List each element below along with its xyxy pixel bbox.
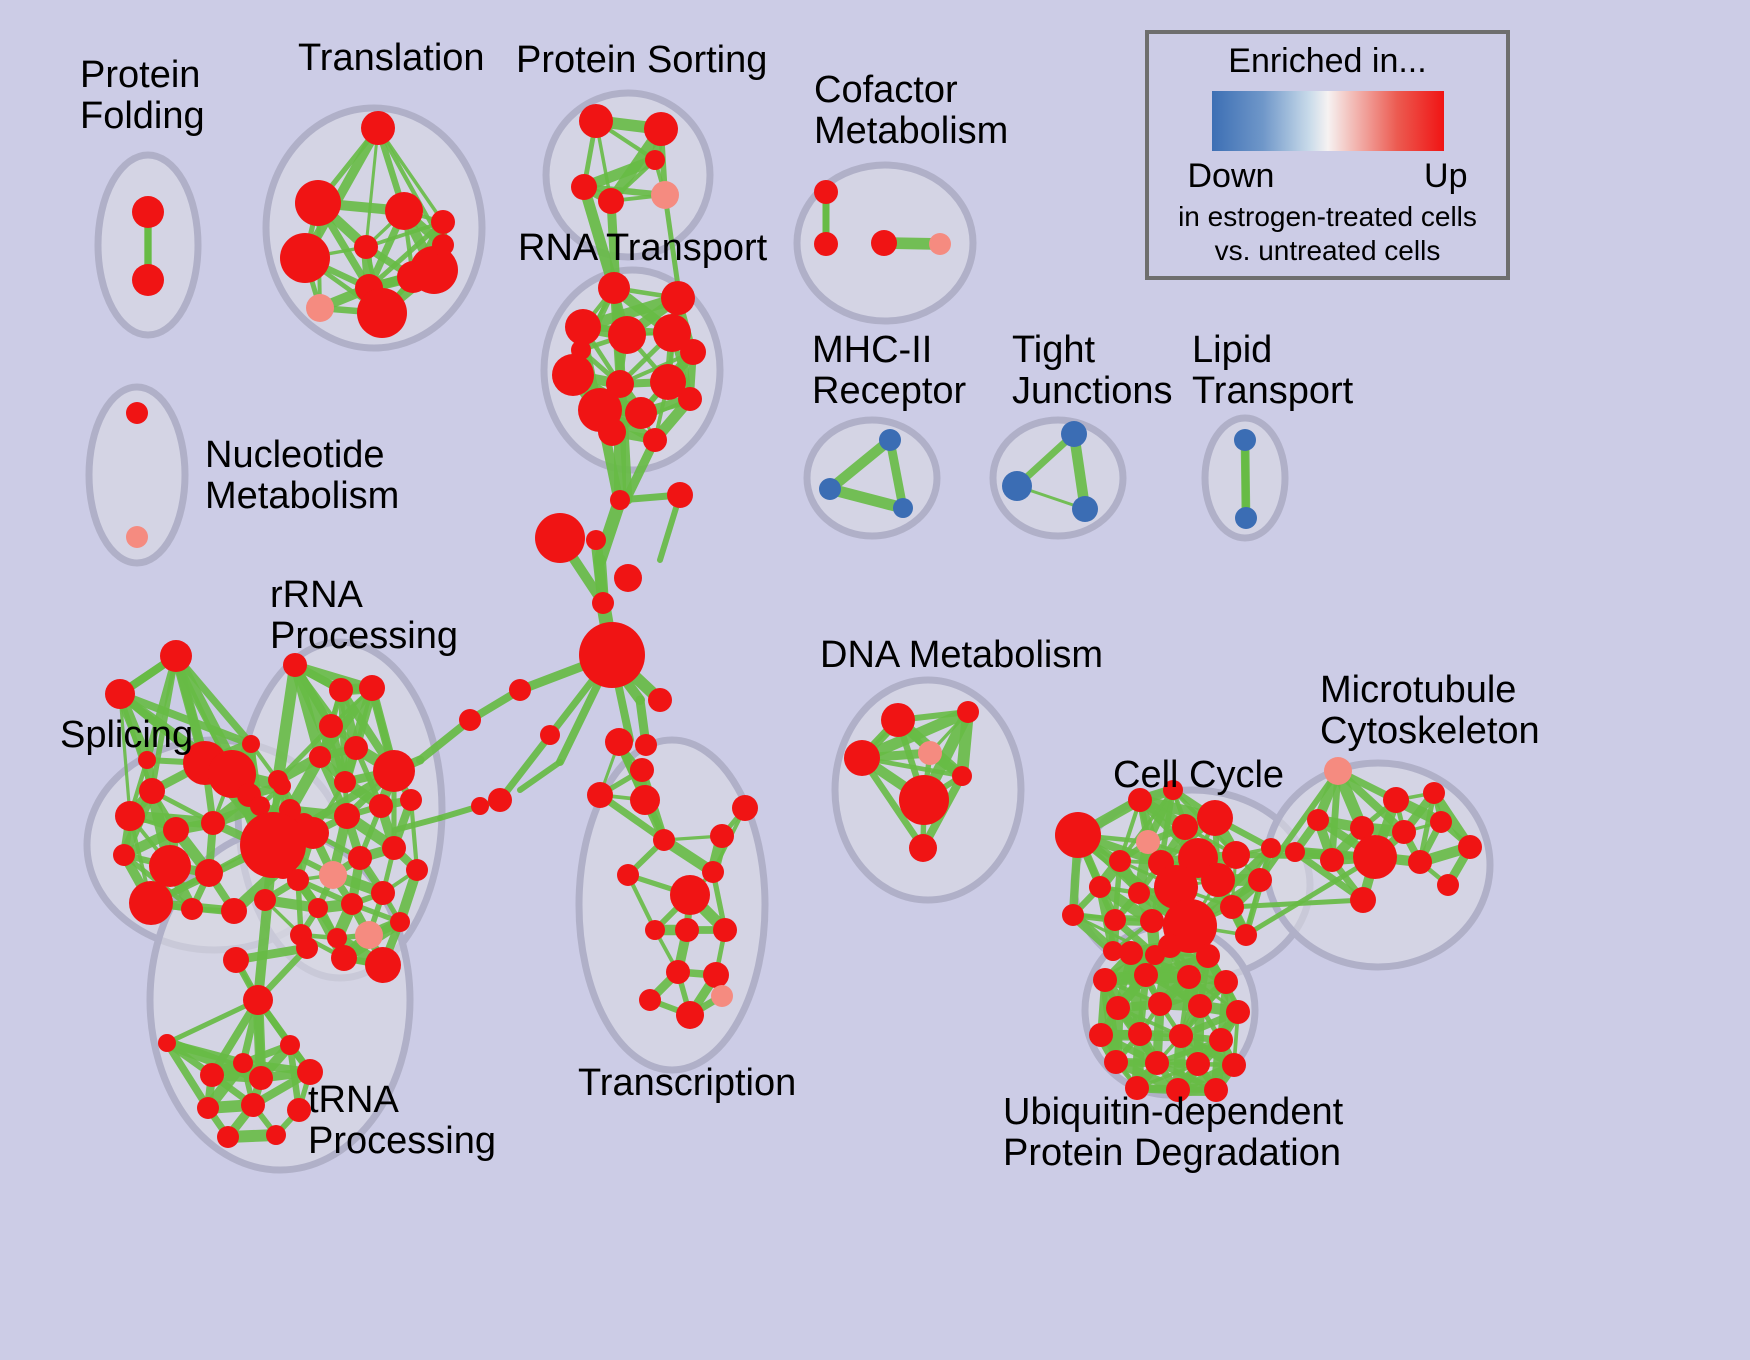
network-node[interactable]: [579, 622, 645, 688]
network-node[interactable]: [1234, 429, 1256, 451]
network-node[interactable]: [319, 861, 347, 889]
network-node[interactable]: [369, 794, 393, 818]
network-node[interactable]: [308, 898, 328, 918]
network-node[interactable]: [630, 760, 650, 780]
network-node[interactable]: [1128, 882, 1150, 904]
network-node[interactable]: [249, 1066, 273, 1090]
network-node[interactable]: [670, 875, 710, 915]
network-node[interactable]: [702, 861, 724, 883]
network-node[interactable]: [1109, 850, 1131, 872]
network-node[interactable]: [667, 482, 693, 508]
network-node[interactable]: [181, 898, 203, 920]
cluster-label-transcription: Transcription: [578, 1063, 796, 1104]
network-node[interactable]: [329, 678, 353, 702]
network-node[interactable]: [630, 785, 660, 815]
network-node[interactable]: [1089, 876, 1111, 898]
network-node[interactable]: [1104, 1050, 1128, 1074]
network-node[interactable]: [680, 339, 706, 365]
network-node[interactable]: [129, 881, 173, 925]
network-node[interactable]: [711, 985, 733, 1007]
network-node[interactable]: [579, 104, 613, 138]
network-node[interactable]: [341, 893, 363, 915]
legend-caption-line1: in estrogen-treated cells: [1178, 200, 1477, 234]
network-node[interactable]: [1104, 909, 1126, 931]
network-node[interactable]: [359, 675, 385, 701]
network-node[interactable]: [431, 210, 455, 234]
network-node[interactable]: [666, 960, 690, 984]
network-node[interactable]: [459, 709, 481, 731]
network-node[interactable]: [357, 288, 407, 338]
cluster-label-microtubule-cytoskeleton: Microtubule Cytoskeleton: [1320, 670, 1540, 751]
network-node[interactable]: [540, 725, 560, 745]
network-node[interactable]: [651, 181, 679, 209]
network-node[interactable]: [1169, 1024, 1193, 1048]
network-node[interactable]: [1201, 863, 1235, 897]
network-node[interactable]: [160, 640, 192, 672]
network-node[interactable]: [1055, 812, 1101, 858]
network-node[interactable]: [710, 824, 734, 848]
network-node[interactable]: [361, 111, 395, 145]
network-node[interactable]: [201, 811, 225, 835]
network-node[interactable]: [1061, 421, 1087, 447]
network-node[interactable]: [881, 703, 915, 737]
network-node[interactable]: [1285, 842, 1305, 862]
cluster-label-lipid-transport: Lipid Transport: [1192, 330, 1353, 411]
enrichment-map-figure: Enriched in... Down Up in estrogen-treat…: [0, 0, 1750, 1360]
network-node[interactable]: [296, 937, 318, 959]
network-node[interactable]: [509, 679, 531, 701]
network-node[interactable]: [645, 920, 665, 940]
network-node[interactable]: [1196, 944, 1220, 968]
network-node[interactable]: [105, 679, 135, 709]
network-node[interactable]: [1235, 507, 1257, 529]
network-node[interactable]: [243, 985, 273, 1015]
network-node[interactable]: [287, 869, 309, 891]
network-node[interactable]: [605, 728, 633, 756]
network-node[interactable]: [676, 1001, 704, 1029]
network-node[interactable]: [1197, 800, 1233, 836]
network-node[interactable]: [331, 945, 357, 971]
cluster-label-tight-junctions: Tight Junctions: [1012, 330, 1173, 411]
cluster-label-rrna-processing: rRNA Processing: [270, 575, 458, 656]
network-node[interactable]: [1226, 1000, 1250, 1024]
network-node[interactable]: [126, 402, 148, 424]
network-node[interactable]: [488, 788, 512, 812]
network-node[interactable]: [410, 246, 458, 294]
cluster-ellipse-mhc-ii-receptor: [807, 420, 937, 536]
network-node[interactable]: [957, 701, 979, 723]
network-node[interactable]: [240, 812, 306, 878]
network-node[interactable]: [126, 526, 148, 548]
network-node[interactable]: [1093, 968, 1117, 992]
network-node[interactable]: [266, 1125, 286, 1145]
network-node[interactable]: [1072, 496, 1098, 522]
network-node[interactable]: [334, 803, 360, 829]
network-node[interactable]: [280, 233, 330, 283]
network-node[interactable]: [242, 735, 260, 753]
network-node[interactable]: [587, 782, 613, 808]
network-node[interactable]: [1002, 471, 1032, 501]
network-node[interactable]: [1324, 757, 1352, 785]
network-node[interactable]: [223, 947, 249, 973]
network-node[interactable]: [139, 778, 165, 804]
cluster-label-translation: Translation: [298, 38, 485, 79]
network-node[interactable]: [844, 740, 880, 776]
network-node[interactable]: [1222, 841, 1250, 869]
network-node[interactable]: [952, 766, 972, 786]
network-node[interactable]: [115, 801, 145, 831]
network-node[interactable]: [598, 272, 630, 304]
network-node[interactable]: [354, 235, 378, 259]
cluster-label-cell-cycle: Cell Cycle: [1113, 755, 1284, 796]
network-node[interactable]: [871, 230, 897, 256]
network-node[interactable]: [355, 921, 383, 949]
network-node[interactable]: [643, 428, 667, 452]
legend-low-label: Down: [1188, 157, 1275, 196]
network-node[interactable]: [233, 1053, 253, 1073]
cluster-label-trna-processing: tRNA Processing: [308, 1080, 496, 1161]
network-node[interactable]: [918, 741, 942, 765]
cluster-label-dna-metabolism: DNA Metabolism: [820, 635, 1103, 676]
legend-caption-line2: vs. untreated cells: [1178, 234, 1477, 268]
legend-color-gradient: [1212, 91, 1444, 151]
network-node[interactable]: [1136, 830, 1160, 854]
network-node[interactable]: [1222, 1053, 1246, 1077]
network-node[interactable]: [382, 836, 406, 860]
network-node[interactable]: [661, 281, 695, 315]
legend-high-label: Up: [1424, 157, 1467, 196]
cluster-label-mhc-ii-receptor: MHC-II Receptor: [812, 330, 966, 411]
network-node[interactable]: [1089, 1023, 1113, 1047]
network-node[interactable]: [639, 989, 661, 1011]
network-node[interactable]: [373, 750, 415, 792]
network-node[interactable]: [713, 918, 737, 942]
network-node[interactable]: [610, 490, 630, 510]
network-node[interactable]: [635, 734, 657, 756]
network-node[interactable]: [309, 746, 331, 768]
network-node[interactable]: [617, 864, 639, 886]
network-node[interactable]: [297, 817, 329, 849]
network-node[interactable]: [598, 418, 626, 446]
cluster-label-protein-sorting: Protein Sorting: [516, 40, 767, 81]
network-node[interactable]: [909, 834, 937, 862]
network-node[interactable]: [814, 180, 838, 204]
network-node[interactable]: [703, 962, 729, 988]
network-node[interactable]: [1188, 994, 1212, 1018]
network-node[interactable]: [200, 1063, 224, 1087]
network-node[interactable]: [1408, 850, 1432, 874]
network-node[interactable]: [1392, 820, 1416, 844]
network-node[interactable]: [893, 498, 913, 518]
network-node[interactable]: [334, 771, 356, 793]
cluster-label-protein-folding: Protein Folding: [80, 55, 205, 136]
cluster-label-cofactor-metabolism: Cofactor Metabolism: [814, 70, 1008, 151]
network-node[interactable]: [280, 1035, 300, 1055]
network-node[interactable]: [1261, 838, 1281, 858]
network-node[interactable]: [1140, 909, 1164, 933]
network-node[interactable]: [295, 180, 341, 226]
network-node[interactable]: [645, 150, 665, 170]
network-node[interactable]: [653, 829, 675, 851]
network-node[interactable]: [132, 264, 164, 296]
network-node[interactable]: [1383, 787, 1409, 813]
network-node[interactable]: [1177, 965, 1201, 989]
network-node[interactable]: [1235, 924, 1257, 946]
network-node[interactable]: [197, 1097, 219, 1119]
network-node[interactable]: [1214, 970, 1238, 994]
legend-title: Enriched in...: [1228, 42, 1426, 81]
network-node[interactable]: [899, 775, 949, 825]
network-node[interactable]: [254, 889, 276, 911]
network-node[interactable]: [1119, 941, 1143, 965]
network-node[interactable]: [1209, 1028, 1233, 1052]
network-node[interactable]: [1134, 963, 1158, 987]
network-node[interactable]: [552, 354, 594, 396]
network-node[interactable]: [390, 912, 410, 932]
network-node[interactable]: [648, 688, 672, 712]
network-node[interactable]: [592, 592, 614, 614]
network-node[interactable]: [614, 564, 642, 592]
network-node[interactable]: [1350, 887, 1376, 913]
network-node[interactable]: [406, 859, 428, 881]
network-node[interactable]: [586, 530, 606, 550]
network-node[interactable]: [535, 513, 585, 563]
network-node[interactable]: [348, 846, 372, 870]
cluster-label-splicing: Splicing: [60, 715, 193, 756]
network-node[interactable]: [1248, 868, 1272, 892]
network-node[interactable]: [432, 234, 454, 256]
network-node[interactable]: [1062, 904, 1084, 926]
network-node[interactable]: [1186, 1052, 1210, 1076]
network-node[interactable]: [1307, 809, 1329, 831]
network-node[interactable]: [598, 188, 624, 214]
network-node[interactable]: [1423, 782, 1445, 804]
network-node[interactable]: [371, 881, 395, 905]
network-node[interactable]: [1437, 874, 1459, 896]
network-node[interactable]: [1148, 992, 1172, 1016]
network-node[interactable]: [471, 797, 489, 815]
network-node[interactable]: [1220, 895, 1244, 919]
network-node[interactable]: [1106, 996, 1130, 1020]
network-node[interactable]: [268, 770, 288, 790]
network-node[interactable]: [149, 845, 191, 887]
network-node[interactable]: [1353, 835, 1397, 879]
network-node[interactable]: [675, 918, 699, 942]
network-node[interactable]: [814, 232, 838, 256]
network-node[interactable]: [158, 1034, 176, 1052]
network-node[interactable]: [319, 714, 343, 738]
network-node[interactable]: [571, 174, 597, 200]
network-node[interactable]: [221, 898, 247, 924]
network-node[interactable]: [879, 429, 901, 451]
network-node[interactable]: [1145, 1051, 1169, 1075]
network-node[interactable]: [365, 947, 401, 983]
network-node[interactable]: [344, 736, 368, 760]
network-node[interactable]: [113, 844, 135, 866]
cluster-label-nucleotide-metabolism: Nucleotide Metabolism: [205, 435, 399, 516]
cluster-label-rna-transport: RNA Transport: [518, 228, 767, 269]
network-node[interactable]: [1320, 848, 1344, 872]
network-node[interactable]: [195, 859, 223, 887]
network-node[interactable]: [565, 309, 601, 345]
network-node[interactable]: [625, 397, 657, 429]
network-node[interactable]: [1430, 811, 1452, 833]
network-node[interactable]: [608, 316, 646, 354]
network-node[interactable]: [241, 1093, 265, 1117]
network-node[interactable]: [571, 340, 591, 360]
network-node[interactable]: [1172, 814, 1198, 840]
network-node[interactable]: [1458, 835, 1482, 859]
network-node[interactable]: [217, 1126, 239, 1148]
network-node[interactable]: [385, 192, 423, 230]
network-node[interactable]: [1128, 1022, 1152, 1046]
network-node[interactable]: [819, 478, 841, 500]
network-node[interactable]: [678, 387, 702, 411]
network-node[interactable]: [732, 795, 758, 821]
network-node[interactable]: [400, 789, 422, 811]
network-node[interactable]: [132, 196, 164, 228]
network-node[interactable]: [1158, 934, 1182, 958]
network-node[interactable]: [644, 112, 678, 146]
cluster-label-ubiquitin-protein-degradation: Ubiquitin-dependent Protein Degradation: [1003, 1092, 1343, 1173]
network-node[interactable]: [929, 233, 951, 255]
network-node[interactable]: [306, 294, 334, 322]
legend-box: Enriched in... Down Up in estrogen-treat…: [1145, 30, 1510, 280]
network-edge: [1245, 440, 1246, 518]
network-node[interactable]: [163, 817, 189, 843]
